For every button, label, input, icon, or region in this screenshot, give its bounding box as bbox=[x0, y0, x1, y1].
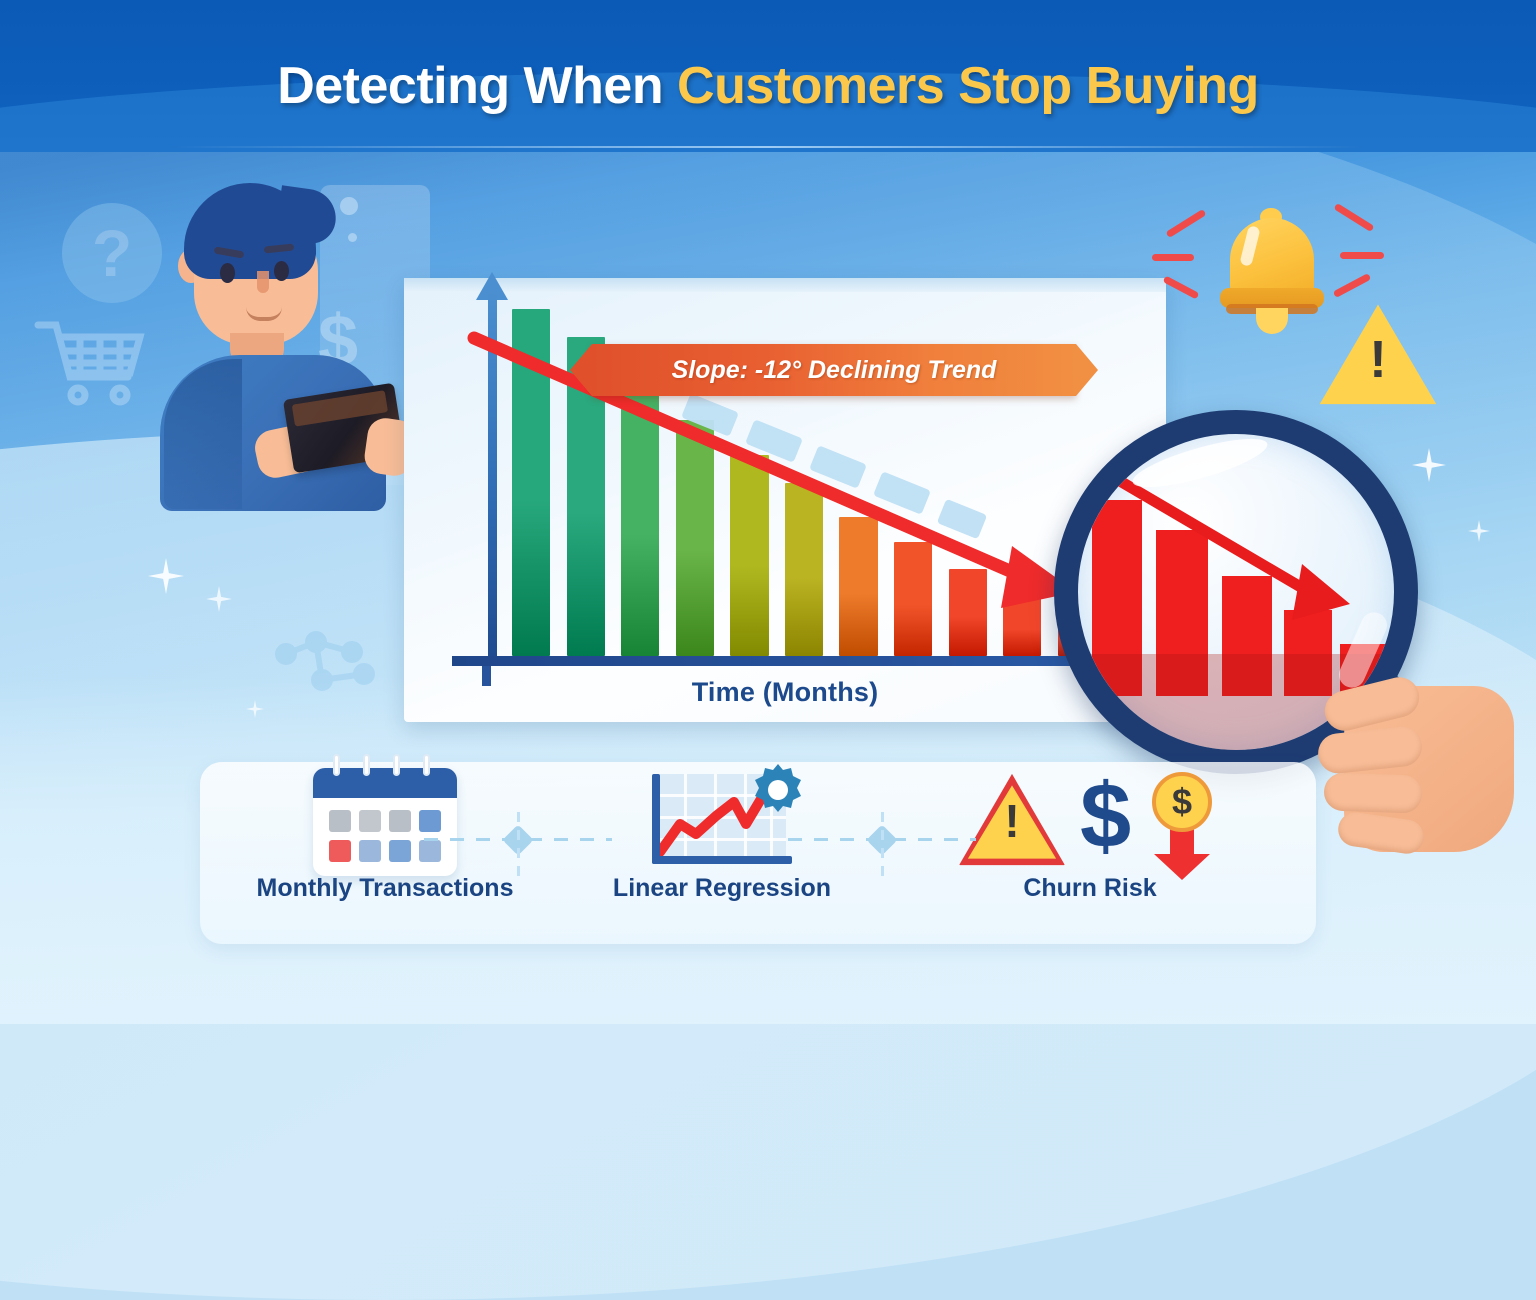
sad-customer-scene: ? $ bbox=[20, 175, 420, 505]
slope-description: Declining Trend bbox=[801, 356, 996, 384]
calendar-cell bbox=[329, 810, 351, 832]
bar-10 bbox=[1003, 597, 1041, 656]
legend-item-churn-risk[interactable]: ! $ $ Churn Risk bbox=[900, 762, 1280, 944]
coin-icon: $ bbox=[1152, 772, 1212, 832]
hand-holding-magnifier bbox=[1318, 640, 1536, 880]
warning-dollar-down-icon: ! $ $ bbox=[900, 762, 1280, 874]
nose bbox=[257, 271, 269, 293]
line-chart-body bbox=[642, 770, 802, 874]
bar-9 bbox=[949, 569, 987, 656]
slope-value: Slope: -12° bbox=[672, 356, 801, 384]
warning-exclamation: ! bbox=[1369, 334, 1386, 386]
eye-left bbox=[220, 263, 235, 283]
dollar-sign-icon: $ bbox=[1080, 770, 1131, 862]
calendar-cell bbox=[419, 810, 441, 832]
eye-right bbox=[274, 261, 289, 281]
calendar-ring bbox=[363, 754, 370, 776]
calendar-icon bbox=[220, 762, 550, 874]
legend-connector-right bbox=[788, 838, 976, 842]
bar-6 bbox=[785, 483, 823, 656]
finger bbox=[1323, 772, 1422, 813]
chart-x-axis bbox=[652, 856, 792, 864]
slope-ribbon-banner: Slope: -12° Declining Trend bbox=[592, 344, 1076, 396]
calendar-ring bbox=[393, 754, 400, 776]
calendar-cell bbox=[359, 840, 381, 862]
calendar-ring bbox=[423, 754, 430, 776]
gear-icon bbox=[750, 762, 806, 818]
page-title-part2: Customers Stop Buying bbox=[677, 57, 1259, 115]
calendar-cell bbox=[419, 840, 441, 862]
bell-clapper bbox=[1256, 308, 1288, 334]
page-title-part1: Detecting When bbox=[277, 57, 677, 115]
legend-item-linear-regression[interactable]: Linear Regression bbox=[572, 762, 872, 944]
title-underline bbox=[170, 146, 1366, 148]
shopping-cart-icon bbox=[32, 315, 152, 407]
hair-sweep bbox=[275, 185, 340, 247]
down-arrow-head-icon bbox=[1154, 854, 1210, 880]
triangle-exclamation: ! bbox=[1004, 798, 1019, 844]
legend-label: Churn Risk bbox=[1023, 874, 1156, 903]
calendar-cell bbox=[389, 810, 411, 832]
calendar-body bbox=[313, 768, 457, 876]
slope-ribbon-text: Slope: -12° Declining Trend bbox=[672, 356, 997, 385]
bell-ray bbox=[1152, 254, 1194, 261]
legend-label: Monthly Transactions bbox=[257, 874, 514, 903]
calendar-ring bbox=[333, 754, 340, 776]
bar-7 bbox=[839, 517, 877, 656]
bar-8 bbox=[894, 542, 932, 656]
calendar-cell bbox=[359, 810, 381, 832]
bar-1 bbox=[512, 309, 550, 656]
legend-connector-left bbox=[424, 838, 612, 842]
network-node-icon bbox=[272, 630, 382, 700]
calendar-cell bbox=[389, 840, 411, 862]
line-chart-gear-icon bbox=[572, 762, 872, 874]
legend-strip: Monthly Transactions bbox=[200, 762, 1316, 944]
y-axis bbox=[488, 292, 497, 660]
torso-shadow bbox=[164, 359, 242, 509]
page-title: Detecting When Customers Stop Buying bbox=[0, 56, 1536, 116]
card-top-strip bbox=[404, 278, 1166, 292]
customer-avatar bbox=[138, 183, 408, 505]
bar-5 bbox=[730, 455, 768, 656]
x-axis bbox=[452, 656, 1100, 666]
bar-3 bbox=[621, 386, 659, 656]
legend-label: Linear Regression bbox=[613, 874, 831, 903]
bell-ray bbox=[1340, 252, 1384, 259]
calendar-cell-highlight bbox=[329, 840, 351, 862]
churn-warning-triangle-icon: ! bbox=[958, 772, 1066, 868]
churn-icon-group: ! $ $ bbox=[956, 768, 1224, 876]
warning-triangle-icon: ! bbox=[1316, 300, 1440, 412]
chart-y-axis bbox=[652, 774, 660, 864]
legend-item-monthly-transactions[interactable]: Monthly Transactions bbox=[220, 762, 550, 944]
bar-4 bbox=[676, 420, 714, 656]
